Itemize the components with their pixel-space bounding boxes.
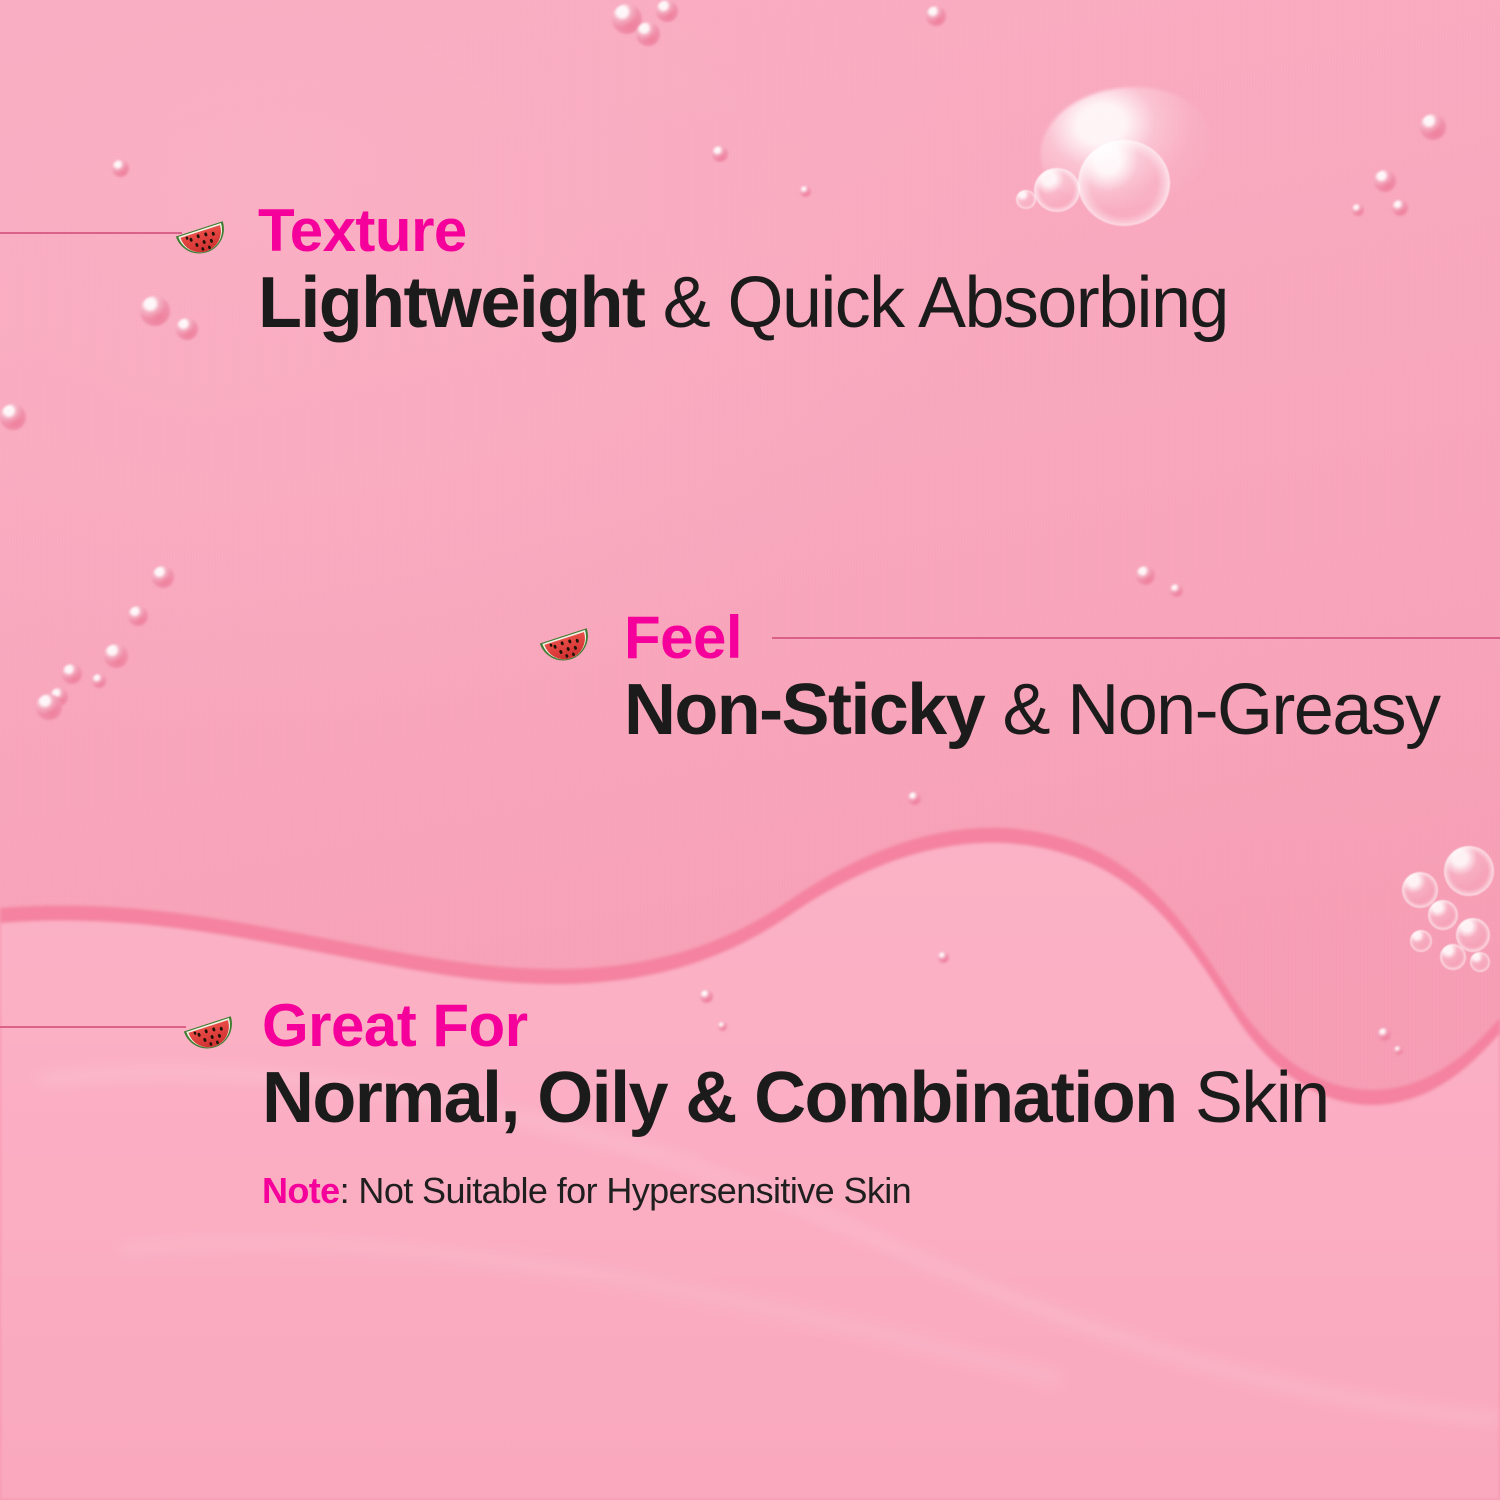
leader-line-texture xyxy=(0,232,182,234)
watermelon-slice-icon xyxy=(529,603,600,674)
note-line: Note: Not Suitable for Hypersensitive Sk… xyxy=(262,1173,911,1209)
headline-rest-feel: & Non-Greasy xyxy=(984,670,1439,750)
droplet-mid-a xyxy=(1136,566,1155,585)
feature-kicker-great-for: Great For xyxy=(262,996,528,1056)
note-label: Note xyxy=(262,1170,340,1211)
feature-kicker-feel: Feel xyxy=(624,608,742,668)
note-separator: : xyxy=(340,1170,359,1211)
feature-row-texture: Texture Lightweight & Quick Absorbing xyxy=(0,195,1500,355)
droplet-mid-c xyxy=(908,792,921,805)
droplet-top-e xyxy=(712,146,728,162)
droplet-mid-b xyxy=(1170,584,1183,597)
bubble-right-cluster-1 xyxy=(1444,846,1494,896)
feature-row-feel: Feel Non-Sticky & Non-Greasy xyxy=(0,600,1500,760)
headline-emphasis-feel: Non-Sticky xyxy=(624,670,984,750)
feature-row-great-for: Great For Normal, Oily & Combination Ski… xyxy=(0,990,1500,1220)
product-benefits-infographic: Texture Lightweight & Quick Absorbing xyxy=(0,0,1500,1500)
leader-line-feel xyxy=(772,637,1500,639)
bubble-right-cluster-7 xyxy=(1470,952,1490,972)
droplet-top-b xyxy=(636,22,660,46)
feature-headline-great-for: Normal, Oily & Combination Skin xyxy=(262,1062,1329,1134)
feature-kicker-texture: Texture xyxy=(258,201,467,261)
headline-rest-great-for: Skin xyxy=(1176,1058,1328,1138)
headline-emphasis-great-for: Normal, Oily & Combination xyxy=(262,1058,1176,1138)
headline-rest-texture: & Quick Absorbing xyxy=(644,263,1228,343)
droplet-cluster-a xyxy=(152,566,174,588)
droplet-top-c xyxy=(656,0,678,22)
bubble-right-cluster-5 xyxy=(1410,930,1432,952)
headline-emphasis-texture: Lightweight xyxy=(258,263,644,343)
watermelon-slice-icon xyxy=(173,991,244,1062)
droplet-top-d xyxy=(926,6,946,26)
droplet-left-c xyxy=(112,160,129,177)
note-text: Not Suitable for Hypersensitive Skin xyxy=(358,1170,911,1211)
leader-line-great-for xyxy=(0,1026,186,1028)
bubble-right-cluster-6 xyxy=(1440,944,1466,970)
watermelon-slice-icon xyxy=(165,196,236,267)
feature-headline-feel: Non-Sticky & Non-Greasy xyxy=(624,674,1439,746)
droplet-mid-f xyxy=(938,952,949,963)
droplet-right-b xyxy=(1374,170,1396,192)
droplet-right-a xyxy=(1420,114,1446,140)
feature-headline-texture: Lightweight & Quick Absorbing xyxy=(258,267,1228,339)
droplet-left-d xyxy=(0,404,26,430)
bubble-right-cluster-3 xyxy=(1428,900,1458,930)
